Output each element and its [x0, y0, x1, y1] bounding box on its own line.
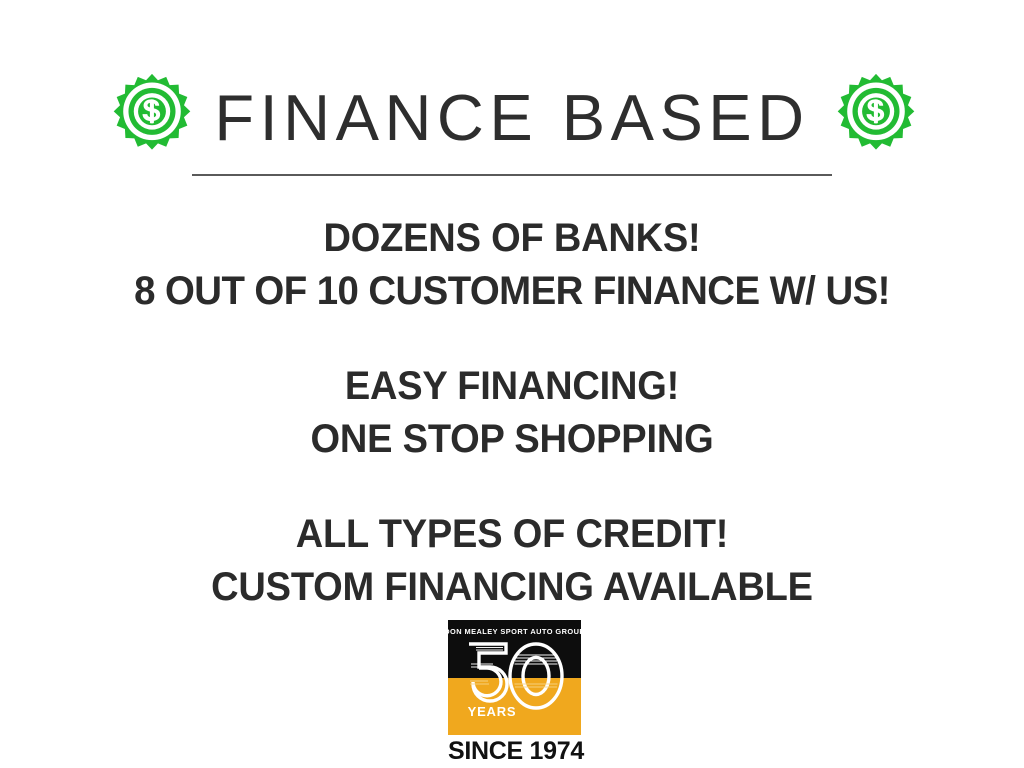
logo-years-text: YEARS [468, 704, 517, 719]
copy-headline-1: DOZENS OF BANKS! [26, 212, 999, 264]
title-divider [192, 174, 832, 176]
logo-company-text: DON MEALEY SPORT AUTO GROUP [448, 627, 581, 636]
copy-headline-2: EASY FINANCING! [26, 360, 999, 412]
copy-subline-3: CUSTOM FINANCING AVAILABLE [26, 560, 999, 614]
copy-group-1: DOZENS OF BANKS! 8 OUT OF 10 CUSTOMER FI… [0, 212, 1024, 318]
copy-group-2: EASY FINANCING! ONE STOP SHOPPING [0, 360, 1024, 466]
copy-block: DOZENS OF BANKS! 8 OUT OF 10 CUSTOMER FI… [0, 212, 1024, 614]
copy-group-3: ALL TYPES OF CREDIT! CUSTOM FINANCING AV… [0, 508, 1024, 614]
logo-badge: DON MEALEY SPORT AUTO GROUP [448, 620, 581, 735]
logo-since-text: SINCE 1974 [448, 737, 581, 765]
dealer-logo: DON MEALEY SPORT AUTO GROUP [448, 620, 581, 765]
dollar-gear-icon-right [828, 72, 924, 168]
copy-subline-2: ONE STOP SHOPPING [26, 412, 999, 466]
copy-headline-3: ALL TYPES OF CREDIT! [26, 508, 999, 560]
logo-badge-artwork: DON MEALEY SPORT AUTO GROUP [448, 620, 581, 735]
slide-canvas: FINANCE BASED DOZENS OF BANKS! 8 OUT OF … [0, 0, 1024, 768]
slide-header: FINANCE BASED [0, 72, 1024, 184]
copy-subline-1: 8 OUT OF 10 CUSTOMER FINANCE W/ US! [20, 264, 1003, 318]
